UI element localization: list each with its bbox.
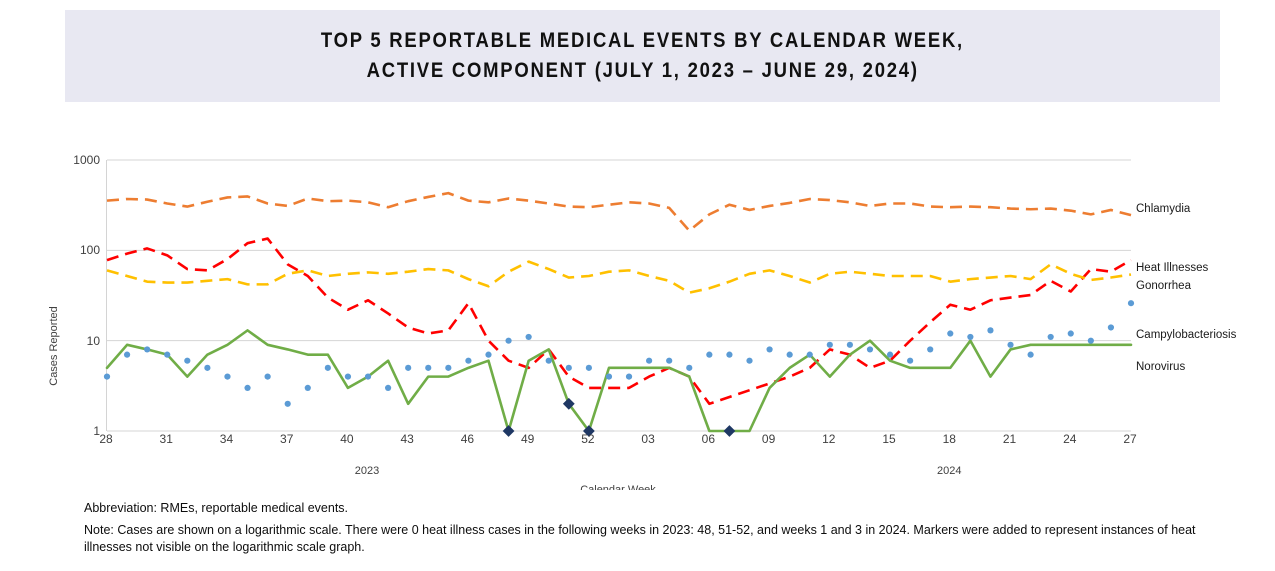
series-label-norovirus: Norovirus [1136, 361, 1185, 373]
x-tick-label: 06 [702, 432, 715, 446]
chart-svg [107, 160, 1131, 431]
series-label-heat-illnesses: Heat Illnesses [1136, 262, 1208, 274]
chart-title-line-2: Active Component (July 1, 2023 – June 29… [366, 56, 918, 86]
x-axis-year-label: 2024 [937, 465, 961, 477]
footnote-note: Note: Cases are shown on a logarithmic s… [84, 522, 1244, 556]
x-tick-label: 34 [220, 432, 233, 446]
x-tick-label: 37 [280, 432, 293, 446]
series-campylobacteriosis [107, 330, 1131, 431]
chart-title-line-1: Top 5 Reportable Medical Events by Calen… [321, 26, 964, 56]
series-label-chlamydia: Chlamydia [1136, 203, 1190, 215]
series-chlamydia [107, 193, 1131, 231]
series-heat-illnesses [107, 239, 1131, 404]
x-tick-label: 03 [641, 432, 654, 446]
y-axis-ticks: 1000100101 [50, 110, 100, 480]
x-tick-label: 18 [943, 432, 956, 446]
footnotes: Abbreviation: RMEs, reportable medical e… [84, 500, 1244, 561]
x-tick-label: 31 [160, 432, 173, 446]
chart-title-banner: Top 5 Reportable Medical Events by Calen… [65, 10, 1220, 102]
x-tick-label: 43 [400, 432, 413, 446]
series-label-gonorrhea: Gonorrhea [1136, 280, 1191, 292]
x-tick-label: 21 [1003, 432, 1016, 446]
x-tick-label: 52 [581, 432, 594, 446]
x-tick-label: 12 [822, 432, 835, 446]
x-axis-ticks: 283134374043464952030609121518212427 [0, 432, 1275, 452]
series-label-campylobacteriosis: Campylobacteriosis [1136, 329, 1236, 341]
x-tick-label: 15 [882, 432, 895, 446]
y-tick-label: 100 [56, 244, 100, 256]
x-tick-label: 49 [521, 432, 534, 446]
y-tick-label: 1000 [56, 154, 100, 166]
y-tick-label: 10 [56, 335, 100, 347]
series-gonorrhea [107, 262, 1131, 293]
plot-area [106, 160, 1131, 431]
x-tick-label: 46 [461, 432, 474, 446]
chart-container: Cases Reported 1000100101 28313437404346… [0, 110, 1275, 480]
x-axis-title: Calendar Week [580, 483, 656, 490]
x-axis-year-label: 2023 [355, 465, 379, 477]
x-tick-label: 24 [1063, 432, 1076, 446]
footnote-abbreviation: Abbreviation: RMEs, reportable medical e… [84, 500, 1244, 517]
x-tick-label: 27 [1123, 432, 1136, 446]
x-tick-label: 40 [340, 432, 353, 446]
x-tick-label: 09 [762, 432, 775, 446]
x-tick-label: 28 [99, 432, 112, 446]
series-norovirus [104, 300, 1134, 407]
